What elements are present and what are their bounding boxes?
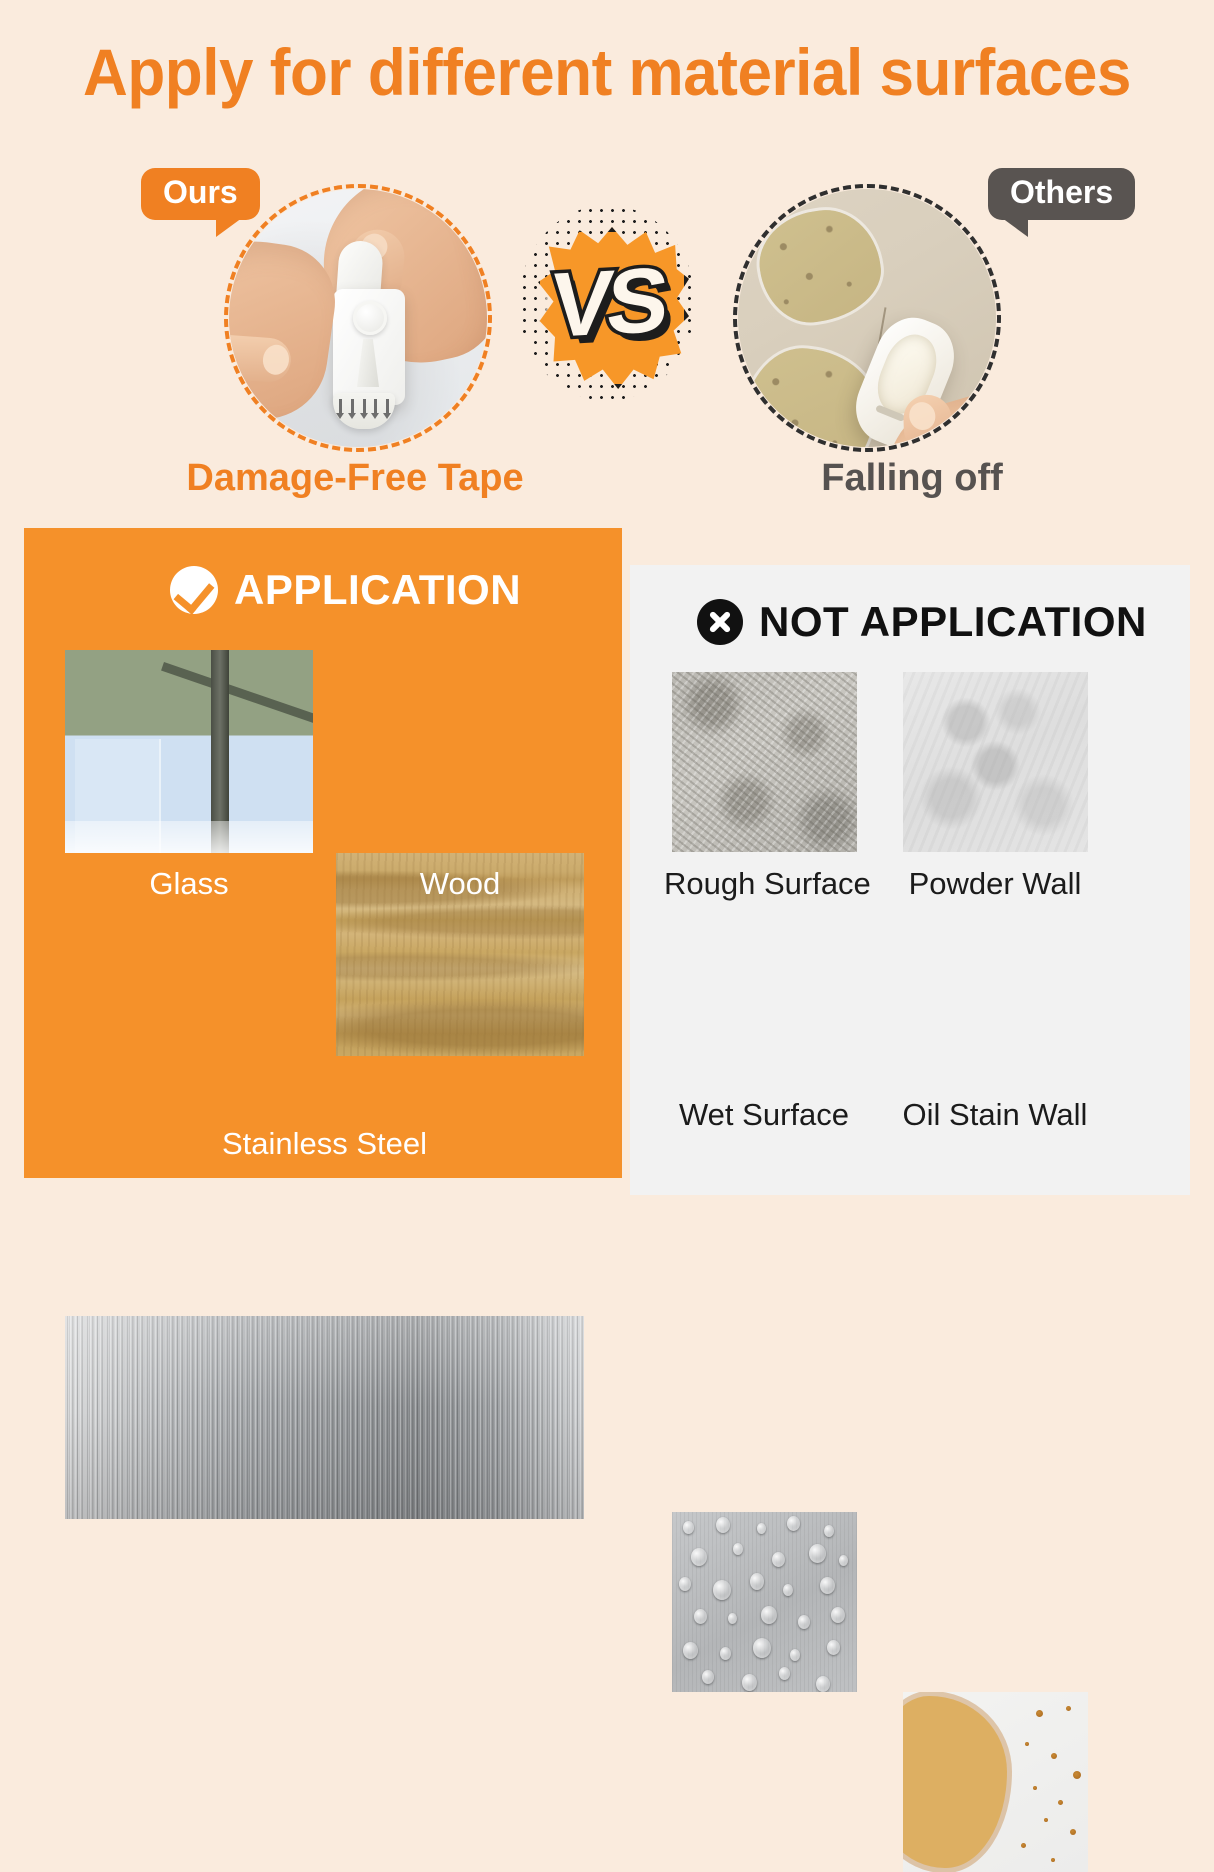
versus-badge: VS — [519, 205, 695, 401]
others-caption: Falling off — [610, 457, 1214, 500]
versus-label: VS — [512, 201, 703, 406]
swatch-label-wet-surface: Wet Surface — [664, 1097, 864, 1133]
panel-divider — [622, 528, 630, 1178]
swatch-label-glass: Glass — [65, 866, 313, 902]
swatch-glass — [65, 650, 313, 853]
x-circle-icon — [697, 599, 743, 645]
swatch-label-stainless-steel: Stainless Steel — [65, 1126, 584, 1162]
infographic-canvas: Apply for different material surfaces Ou… — [0, 0, 1214, 1214]
swatch-label-wood: Wood — [336, 866, 584, 902]
steel-sheen-decoration — [65, 1316, 584, 1519]
hook-button — [353, 301, 387, 335]
pull-direction-arrows-icon — [339, 399, 389, 423]
others-badge: Others — [988, 168, 1135, 220]
glass-floor-decoration — [65, 821, 313, 853]
swatch-label-powder-wall: Powder Wall — [895, 866, 1095, 902]
swatch-powder-wall — [903, 672, 1088, 852]
application-header-label: APPLICATION — [234, 566, 521, 614]
ours-caption: Damage-Free Tape — [0, 457, 710, 500]
oil-stain-decoration — [903, 1696, 1007, 1869]
swatch-rough-surface — [672, 672, 857, 852]
not-application-header-label: NOT APPLICATION — [759, 598, 1147, 646]
not-application-header: NOT APPLICATION — [697, 598, 1147, 646]
page-title: Apply for different material surfaces — [36, 34, 1177, 110]
check-circle-icon — [170, 566, 218, 614]
glass-beam-decoration — [161, 662, 313, 731]
others-product-photo — [738, 189, 996, 447]
swatch-oil-stain-wall — [903, 1692, 1088, 1872]
swatch-wet-surface — [672, 1512, 857, 1692]
swatch-label-rough-surface: Rough Surface — [664, 866, 864, 902]
water-droplets-decoration — [672, 1512, 857, 1692]
application-header: APPLICATION — [170, 566, 521, 614]
swatch-stainless-steel — [65, 1316, 584, 1519]
ours-product-photo — [229, 189, 487, 447]
swatch-label-oil-stain-wall: Oil Stain Wall — [895, 1097, 1095, 1133]
ours-badge: Ours — [141, 168, 260, 220]
